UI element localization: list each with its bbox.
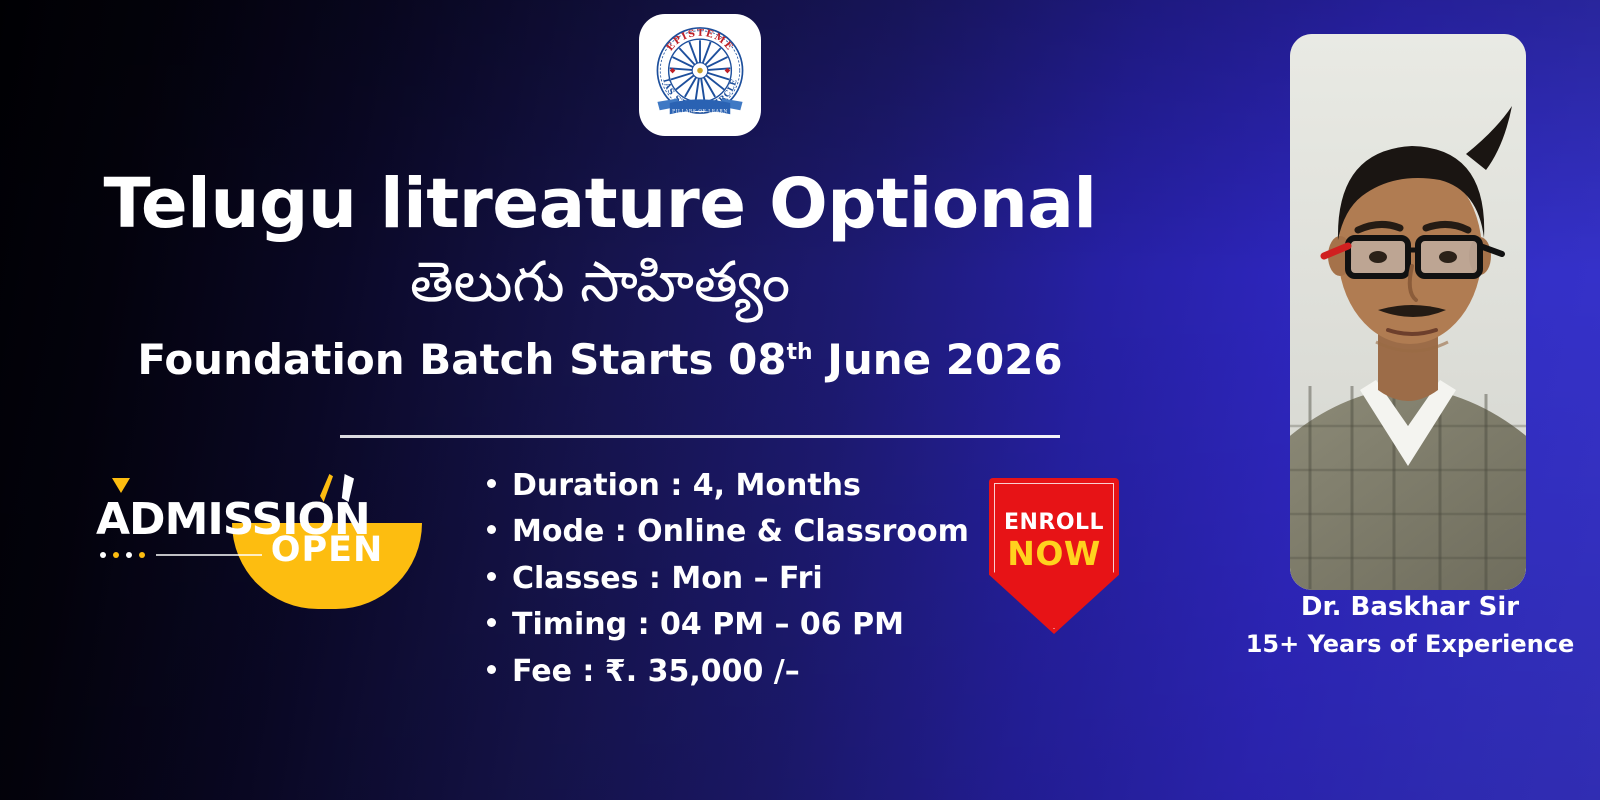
dot-decoration [100,552,262,558]
page-title-english: Telugu litreature Optional [0,170,1200,239]
page-title-telugu: తెలుగు సాహిత్యం [0,247,1200,317]
detail-timing: Timing : 04 PM – 06 PM [512,607,904,642]
list-item: Mode : Online & Classroom [487,514,969,549]
enroll-label: ENROLL [989,510,1119,535]
dot-icon [100,552,106,558]
detail-fee: Fee : ₹. 35,000 /– [512,654,800,689]
dot-icon [113,552,119,558]
svg-text:PILLARS OF LEARN: PILLARS OF LEARN [672,109,728,115]
enroll-now-badge[interactable]: ENROLL NOW [989,478,1119,634]
episteme-logo-icon: EPISTEME IAS STUDY CIRCLE PILLARS OF LEA… [644,19,756,131]
list-item: Fee : ₹. 35,000 /– [487,654,969,689]
headline-block: Telugu litreature Optional తెలుగు సాహిత్… [0,170,1200,383]
dot-line [156,554,262,556]
bullet-icon [487,572,496,581]
batch-start-prefix: Foundation Batch Starts 08 [137,335,786,384]
list-item: Timing : 04 PM – 06 PM [487,607,969,642]
bullet-icon [487,665,496,674]
detail-mode: Mode : Online & Classroom [512,514,969,549]
instructor-portrait-image [1290,34,1526,590]
instructor-experience: 15+ Years of Experience [1220,630,1600,658]
dot-icon [139,552,145,558]
instructor-photo [1290,34,1526,590]
detail-classes: Classes : Mon – Fri [512,561,823,596]
batch-start-suffix: June 2026 [813,335,1063,384]
course-details-list: Duration : 4, Months Mode : Online & Cla… [487,468,969,700]
ordinal-suffix: th [787,340,813,365]
bullet-icon [487,479,496,488]
open-label: OPEN [232,530,422,570]
list-item: Duration : 4, Months [487,468,969,503]
now-label: NOW [989,534,1119,573]
list-item: Classes : Mon – Fri [487,561,969,596]
dot-icon [126,552,132,558]
bullet-icon [487,618,496,627]
instructor-name: Dr. Baskhar Sir [1240,592,1580,622]
promotional-banner: EPISTEME IAS STUDY CIRCLE PILLARS OF LEA… [0,0,1600,800]
detail-duration: Duration : 4, Months [512,468,861,503]
bullet-icon [487,525,496,534]
section-divider [340,435,1060,438]
triangle-accent-icon [112,478,130,493]
admission-open-badge: ADMISSION OPEN [96,470,426,610]
batch-start-date: Foundation Batch Starts 08th June 2026 [0,337,1200,383]
institute-logo: EPISTEME IAS STUDY CIRCLE PILLARS OF LEA… [639,14,761,136]
